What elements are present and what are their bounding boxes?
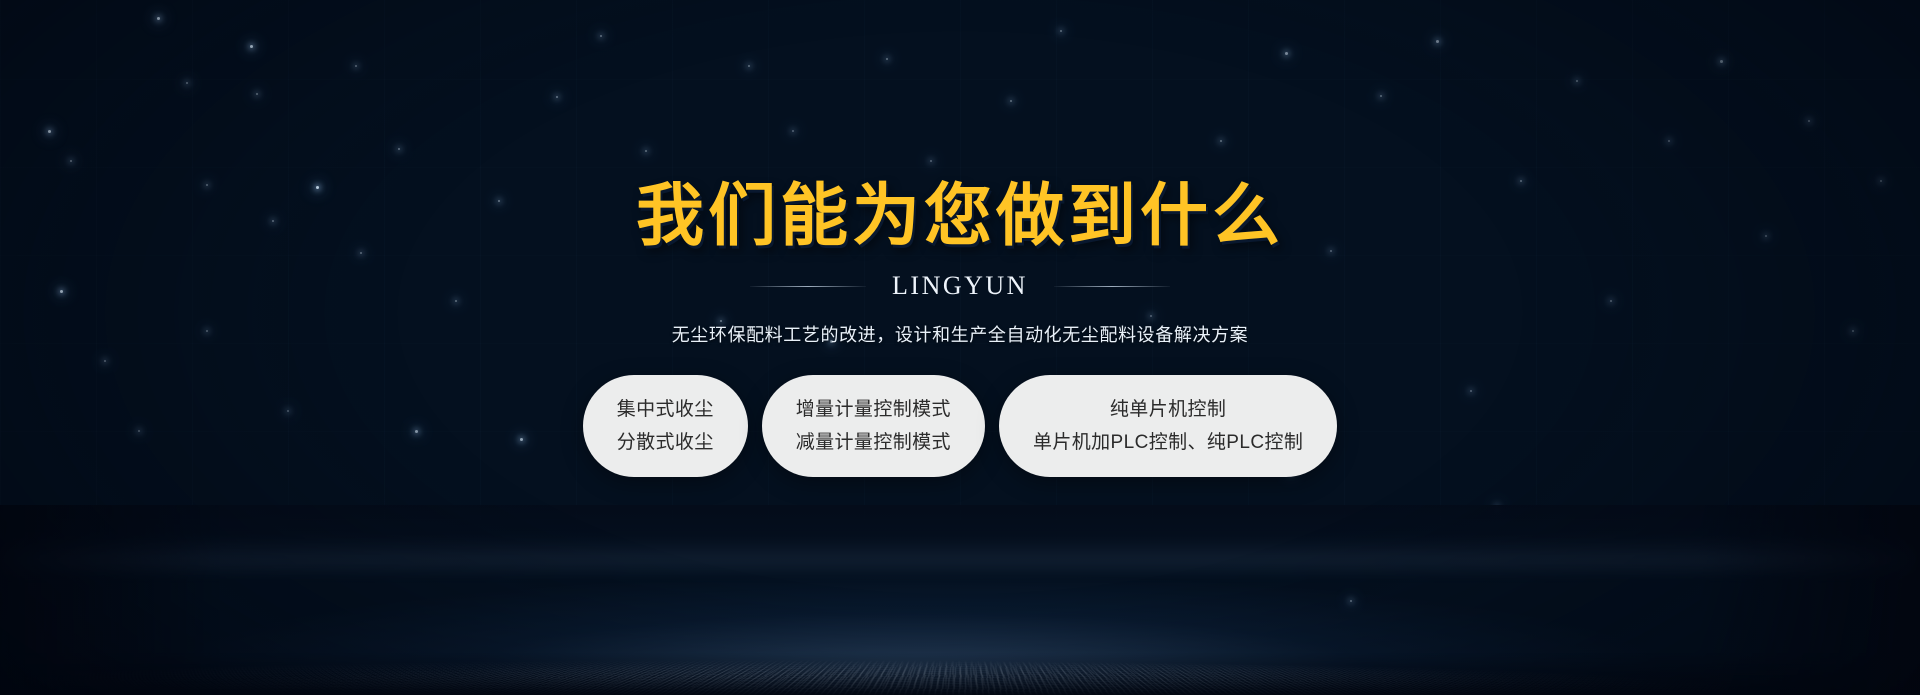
bottom-mesh-wave (0, 505, 1920, 695)
star-icon (1350, 600, 1352, 602)
mesh-edge-shade-left (0, 505, 220, 695)
feature-pill-list: 集中式收尘 分散式收尘 增量计量控制模式 减量计量控制模式 纯单片机控制 单片机… (583, 375, 1338, 477)
mesh-horizon-line (0, 535, 1920, 577)
feature-pill-line: 单片机加PLC控制、纯PLC控制 (1033, 433, 1303, 452)
brand-english-name: LINGYUN (892, 271, 1028, 301)
mesh-grid-far (0, 642, 1920, 695)
mesh-grid-near (0, 646, 1920, 689)
banner-content: 我们能为您做到什么 LINGYUN 无尘环保配料工艺的改进，设计和生产全自动化无… (0, 0, 1920, 477)
feature-pill-line: 纯单片机控制 (1110, 400, 1226, 419)
feature-pill-line: 集中式收尘 (617, 400, 714, 419)
feature-pill-line: 增量计量控制模式 (796, 400, 951, 419)
feature-pill-line: 减量计量控制模式 (796, 433, 951, 452)
mesh-fade-bottom (0, 653, 1920, 695)
hero-banner: 我们能为您做到什么 LINGYUN 无尘环保配料工艺的改进，设计和生产全自动化无… (0, 0, 1920, 695)
mesh-edge-shade-right (1700, 505, 1920, 695)
mesh-fade-top (0, 505, 1920, 575)
english-name-row: LINGYUN (750, 271, 1170, 301)
decorative-rule-right (1054, 286, 1170, 287)
page-title: 我们能为您做到什么 (636, 183, 1284, 251)
feature-pill[interactable]: 集中式收尘 分散式收尘 (583, 375, 748, 477)
tagline: 无尘环保配料工艺的改进，设计和生产全自动化无尘配料设备解决方案 (672, 321, 1249, 347)
feature-pill-line: 分散式收尘 (617, 433, 714, 452)
feature-pill[interactable]: 增量计量控制模式 减量计量控制模式 (762, 375, 985, 477)
feature-pill[interactable]: 纯单片机控制 单片机加PLC控制、纯PLC控制 (999, 375, 1337, 477)
star-icon (1496, 505, 1498, 507)
mesh-glow (0, 525, 1920, 695)
decorative-rule-left (750, 286, 866, 287)
